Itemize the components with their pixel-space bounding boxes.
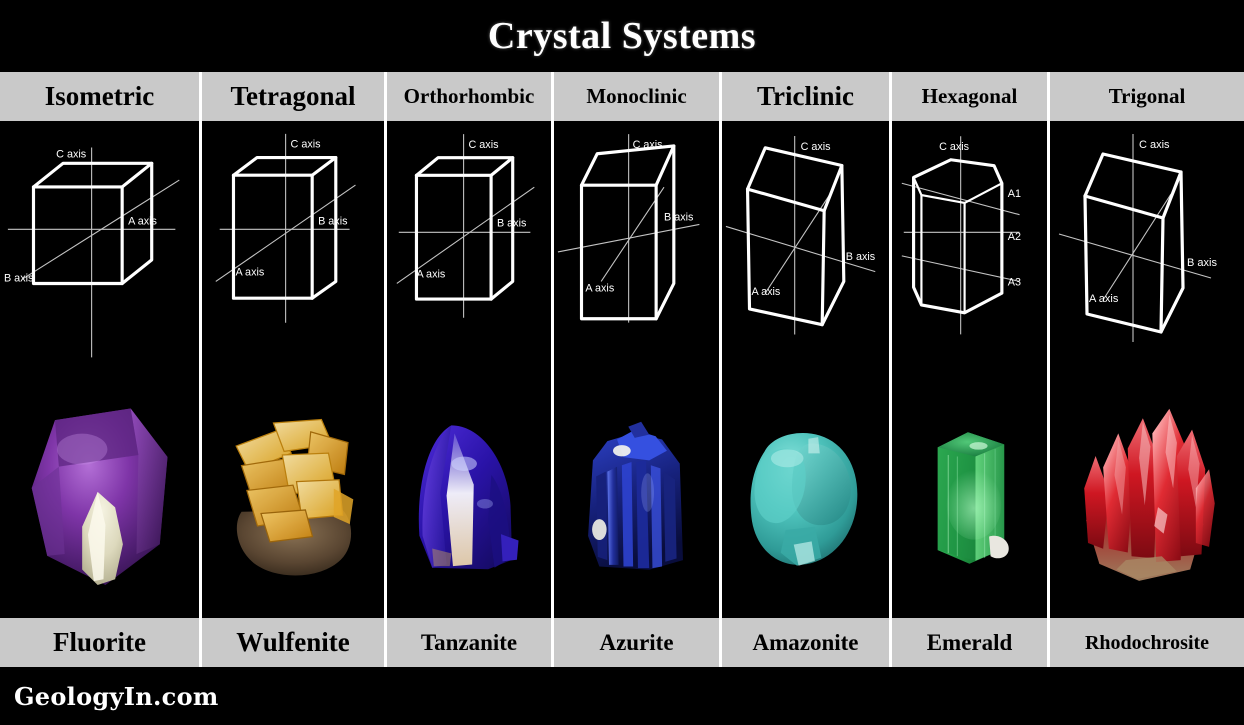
specimen-photo-amazonite (722, 376, 889, 615)
prism-front-face (1085, 196, 1163, 332)
b-axis-line (1059, 234, 1211, 278)
rhodochrosite-specimen (1071, 393, 1222, 599)
system-header-hexagonal: Hexagonal (892, 72, 1047, 124)
fluorite-specimen (22, 393, 177, 599)
system-header-isometric: Isometric (0, 72, 199, 124)
amazonite-specimen (740, 393, 870, 599)
tanzanite-highlight-2 (477, 499, 493, 509)
label-c-axis: C axis (291, 139, 322, 151)
label-c-axis: C axis (1139, 139, 1170, 151)
column-triclinic: Triclinic C axis B axis A axis (722, 72, 892, 667)
label-b-axis: B axis (664, 212, 694, 224)
wulfenite-specimen (222, 393, 364, 599)
tanzanite-step (501, 534, 519, 561)
label-b-axis: B axis (1187, 257, 1217, 269)
crystal-systems-grid: Isometric C axis A axis B axis (0, 72, 1244, 667)
specimen-photo-azurite (554, 376, 719, 615)
column-isometric: Isometric C axis A axis B axis (0, 72, 202, 667)
label-b-axis: B axis (4, 273, 34, 285)
mineral-name-rhodochrosite: Rhodochrosite (1050, 615, 1244, 667)
mineral-name-fluorite: Fluorite (0, 615, 199, 667)
prism-top-face (233, 158, 335, 176)
emerald-specimen (909, 393, 1030, 599)
column-tetragonal: Tetragonal C axis B axis A axis (202, 72, 387, 667)
prism-front-face (748, 189, 825, 325)
cube-front-face (33, 187, 122, 284)
watermark-band: GeologyIn.com (0, 667, 1244, 725)
mineral-name-wulfenite: Wulfenite (202, 615, 384, 667)
specimen-photo-emerald (892, 376, 1047, 615)
label-b-axis: B axis (497, 217, 527, 229)
mineral-name-amazonite: Amazonite (722, 615, 889, 667)
system-header-tetragonal: Tetragonal (202, 72, 384, 124)
cube-top-face (33, 163, 151, 187)
specimen-photo-fluorite (0, 376, 199, 615)
hex-prism-outline (914, 160, 1002, 313)
column-orthorhombic: Orthorhombic C axis B axis A axis (387, 72, 554, 667)
column-hexagonal: Hexagonal C axis A1 A2 A3 (892, 72, 1050, 667)
label-a-axis: A axis (1089, 293, 1119, 305)
system-header-trigonal: Trigonal (1050, 72, 1244, 124)
page-title: Crystal Systems (488, 14, 756, 58)
label-a1-axis: A1 (1008, 188, 1021, 200)
label-a3-axis: A3 (1008, 276, 1021, 288)
emerald-calcite (989, 536, 1009, 559)
label-c-axis: C axis (801, 141, 832, 153)
crystal-systems-poster: Crystal Systems Isometric C axis A ax (0, 0, 1244, 725)
specimen-photo-rhodochrosite (1050, 376, 1244, 615)
label-a-axis: A axis (128, 215, 157, 227)
label-c-axis: C axis (633, 139, 664, 151)
axis-diagram-orthorhombic: C axis B axis A axis (387, 124, 551, 376)
emerald-top-highlight (969, 442, 987, 450)
label-b-axis: B axis (318, 215, 348, 227)
amazonite-highlight (771, 449, 804, 467)
label-b-axis: B axis (846, 251, 876, 263)
label-a-axis: A axis (585, 282, 614, 294)
axis-diagram-isometric: C axis A axis B axis (0, 124, 199, 376)
label-a-axis: A axis (416, 268, 445, 280)
mineral-name-azurite: Azurite (554, 615, 719, 667)
system-header-orthorhombic: Orthorhombic (387, 72, 551, 124)
label-c-axis: C axis (939, 141, 969, 153)
tanzanite-highlight (451, 456, 477, 470)
mineral-name-tanzanite: Tanzanite (387, 615, 551, 667)
column-monoclinic: Monoclinic C axis B axis A axis (554, 72, 722, 667)
axis-diagram-triclinic: C axis B axis A axis (722, 124, 889, 376)
azurite-gloss (641, 473, 654, 512)
site-watermark: GeologyIn.com (14, 682, 219, 711)
label-a2-axis: A2 (1008, 231, 1021, 243)
azurite-specimen (572, 393, 701, 599)
prism-top-face (582, 146, 674, 185)
axis-diagram-trigonal: C axis B axis A axis (1050, 124, 1244, 376)
axis-diagram-monoclinic: C axis B axis A axis (554, 124, 719, 376)
label-c-axis: C axis (469, 139, 500, 151)
emerald-inner-glow (947, 470, 1001, 540)
label-a-axis: A axis (751, 286, 780, 298)
amazonite-cleft-highlight (809, 437, 820, 453)
column-trigonal: Trigonal C axis B axis A axis (1050, 72, 1244, 667)
mineral-name-emerald: Emerald (892, 615, 1047, 667)
prism-right-face (312, 158, 336, 299)
system-header-triclinic: Triclinic (722, 72, 889, 124)
azurite-white-inclusion-2 (592, 519, 606, 540)
tanzanite-specimen (405, 393, 533, 599)
a-axis-line (601, 187, 664, 281)
label-c-axis: C axis (56, 148, 87, 160)
axis-diagram-tetragonal: C axis B axis A axis (202, 124, 384, 376)
system-header-monoclinic: Monoclinic (554, 72, 719, 124)
axis-diagram-hexagonal: C axis A1 A2 A3 (892, 124, 1047, 376)
prism-front-face (416, 175, 491, 299)
specimen-photo-tanzanite (387, 376, 551, 615)
fluorite-gloss (57, 433, 107, 464)
label-a-axis: A axis (235, 267, 264, 279)
azurite-white-inclusion (613, 445, 631, 456)
specimen-photo-wulfenite (202, 376, 384, 615)
prism-front-face (233, 175, 312, 298)
prism-top-face (416, 158, 512, 176)
prism-front-face (582, 185, 657, 319)
title-band: Crystal Systems (0, 0, 1244, 72)
